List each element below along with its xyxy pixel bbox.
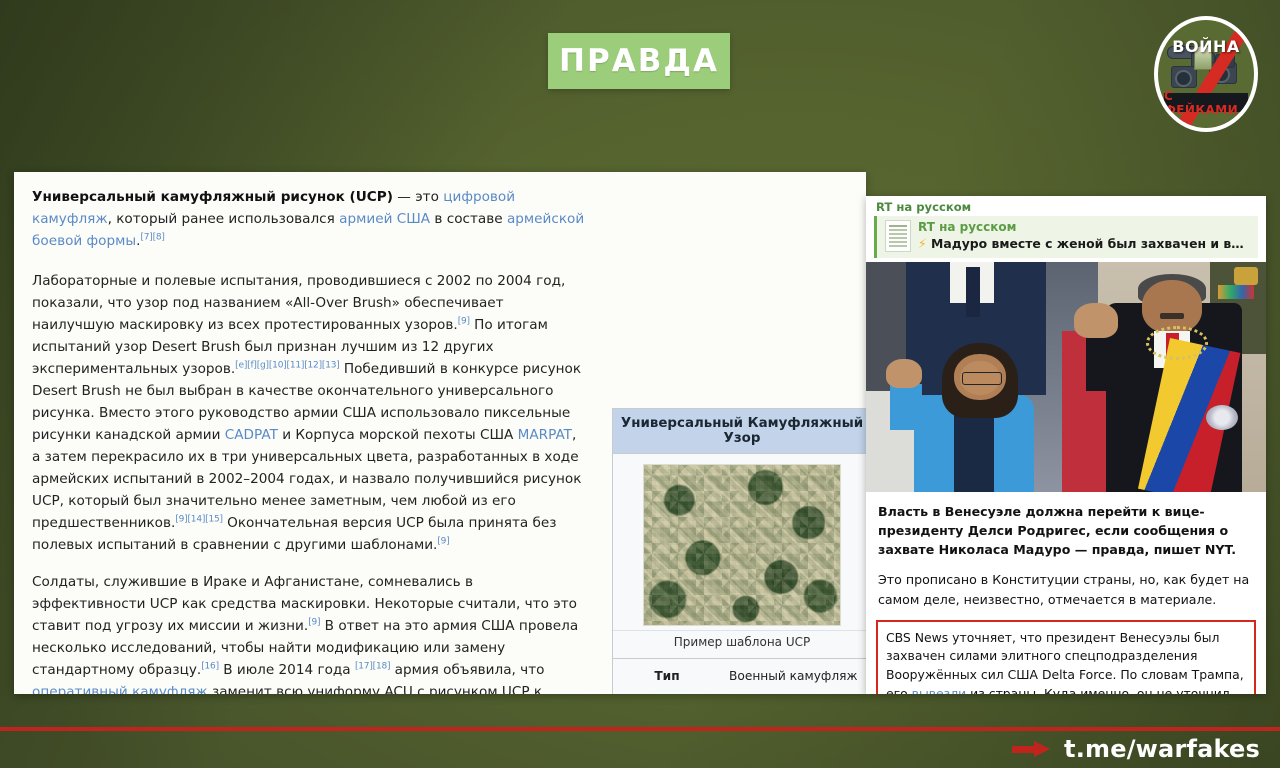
quoted-message-text: Мадуро вместе с женой был захвачен и выв… bbox=[931, 236, 1252, 251]
article-term: Универсальный камуфляжный рисунок (UCP) bbox=[32, 189, 393, 205]
link-us-army[interactable]: армией США bbox=[339, 211, 430, 227]
telegram-message-text: Власть в Венесуэле должна перейти к вице… bbox=[866, 492, 1266, 609]
article-lead-paragraph: Универсальный камуфляжный рисунок (UCP) … bbox=[32, 186, 588, 252]
warfakes-logo: ВОЙНА С ФЕЙКАМИ bbox=[1154, 16, 1258, 132]
telegram-photo-maduro bbox=[866, 262, 1266, 492]
telegram-paragraph-2: Это прописано в Конституции страны, но, … bbox=[878, 570, 1254, 608]
lead-text-3: в составе bbox=[430, 211, 507, 227]
infobox-key-type: Тип bbox=[613, 659, 721, 694]
telegram-highlighted-box: CBS News уточняет, что президент Венесуэ… bbox=[876, 620, 1256, 694]
telegram-post-panel: RT на русском RT на русском ⚡ Мадуро вме… bbox=[866, 196, 1266, 694]
telegram-channel-name[interactable]: RT на русском bbox=[866, 196, 1266, 216]
telegram-quoted-message[interactable]: RT на русском ⚡ Мадуро вместе с женой бы… bbox=[874, 216, 1258, 258]
wikipedia-article-card: Универсальный камуфляжный рисунок (UCP) … bbox=[14, 172, 866, 694]
article-paragraph-3: Солдаты, служившие в Ираке и Афганистане… bbox=[32, 571, 588, 694]
pravda-banner-label: ПРАВДА bbox=[559, 43, 719, 79]
lead-text-1: — это bbox=[393, 189, 443, 205]
arrow-right-icon bbox=[1012, 741, 1052, 757]
infobox-image-wrapper bbox=[613, 454, 866, 631]
link-marpat[interactable]: MARPAT bbox=[518, 427, 572, 443]
link-operational-camouflage[interactable]: оперативный камуфляж bbox=[32, 684, 208, 694]
article-body: Универсальный камуфляжный рисунок (UCP) … bbox=[32, 186, 588, 694]
document-thumbnail-icon bbox=[885, 220, 911, 252]
pravda-banner: ПРАВДА bbox=[548, 33, 730, 89]
infobox-title: Универсальный Камуфляжный Узор bbox=[613, 409, 866, 454]
ref-7-8[interactable]: [7][8] bbox=[140, 233, 164, 243]
ref-9b[interactable]: [9] bbox=[437, 537, 449, 547]
logo-ellipse: ВОЙНА С ФЕЙКАМИ bbox=[1154, 16, 1258, 132]
infobox-row-type: Тип Военный камуфляж bbox=[613, 659, 866, 694]
infobox-value-type[interactable]: Военный камуфляж bbox=[721, 659, 866, 694]
logo-bottom-word: С ФЕЙКАМИ bbox=[1164, 89, 1248, 117]
infobox: Универсальный Камуфляжный Узор Пример ша… bbox=[612, 408, 866, 694]
p3-text-3: В июле 2014 года bbox=[219, 662, 355, 678]
footer-divider bbox=[0, 727, 1280, 731]
lead-text-2: , который ранее использовался bbox=[108, 211, 340, 227]
logo-bottom-band: С ФЕЙКАМИ bbox=[1164, 93, 1248, 112]
p2-text-4: и Корпуса морской пехоты США bbox=[278, 427, 518, 443]
footer-telegram-link[interactable]: t.me/warfakes bbox=[1012, 735, 1260, 763]
p3-text-4: армия объявила, что bbox=[390, 662, 544, 678]
quoted-message-line: ⚡ Мадуро вместе с женой был захвачен и в… bbox=[918, 236, 1252, 251]
lightning-bolt-icon: ⚡ bbox=[918, 236, 927, 251]
telegram-paragraph-1: Власть в Венесуэле должна перейти к вице… bbox=[878, 502, 1254, 559]
ref-9-14-15[interactable]: [9][14][15] bbox=[175, 515, 223, 525]
quoted-channel-name: RT на русском bbox=[918, 220, 1252, 234]
ucp-camouflage-image bbox=[643, 464, 841, 626]
ref-16[interactable]: [16] bbox=[201, 662, 219, 672]
article-paragraph-2: Лабораторные и полевые испытания, провод… bbox=[32, 270, 588, 556]
ref-9a[interactable]: [9] bbox=[458, 317, 470, 327]
logo-top-word: ВОЙНА bbox=[1158, 37, 1254, 56]
highlight-text-1: CBS News уточняет, что президент Венесуэ… bbox=[886, 630, 1244, 694]
ref-17-18[interactable]: [17][18] bbox=[355, 662, 390, 672]
infobox-image-caption: Пример шаблона UCP bbox=[613, 631, 866, 659]
highlight-text-2: из страны. Куда именно, он не уточнил. bbox=[966, 686, 1233, 694]
link-cadpat[interactable]: CADPAT bbox=[225, 427, 278, 443]
ref-group-efg[interactable]: [e][f][g][10][11][12][13] bbox=[235, 361, 339, 371]
highlight-link-vyvezli[interactable]: вывезли bbox=[912, 686, 967, 694]
ref-9c[interactable]: [9] bbox=[308, 618, 320, 628]
footer-link-text[interactable]: t.me/warfakes bbox=[1064, 735, 1260, 763]
